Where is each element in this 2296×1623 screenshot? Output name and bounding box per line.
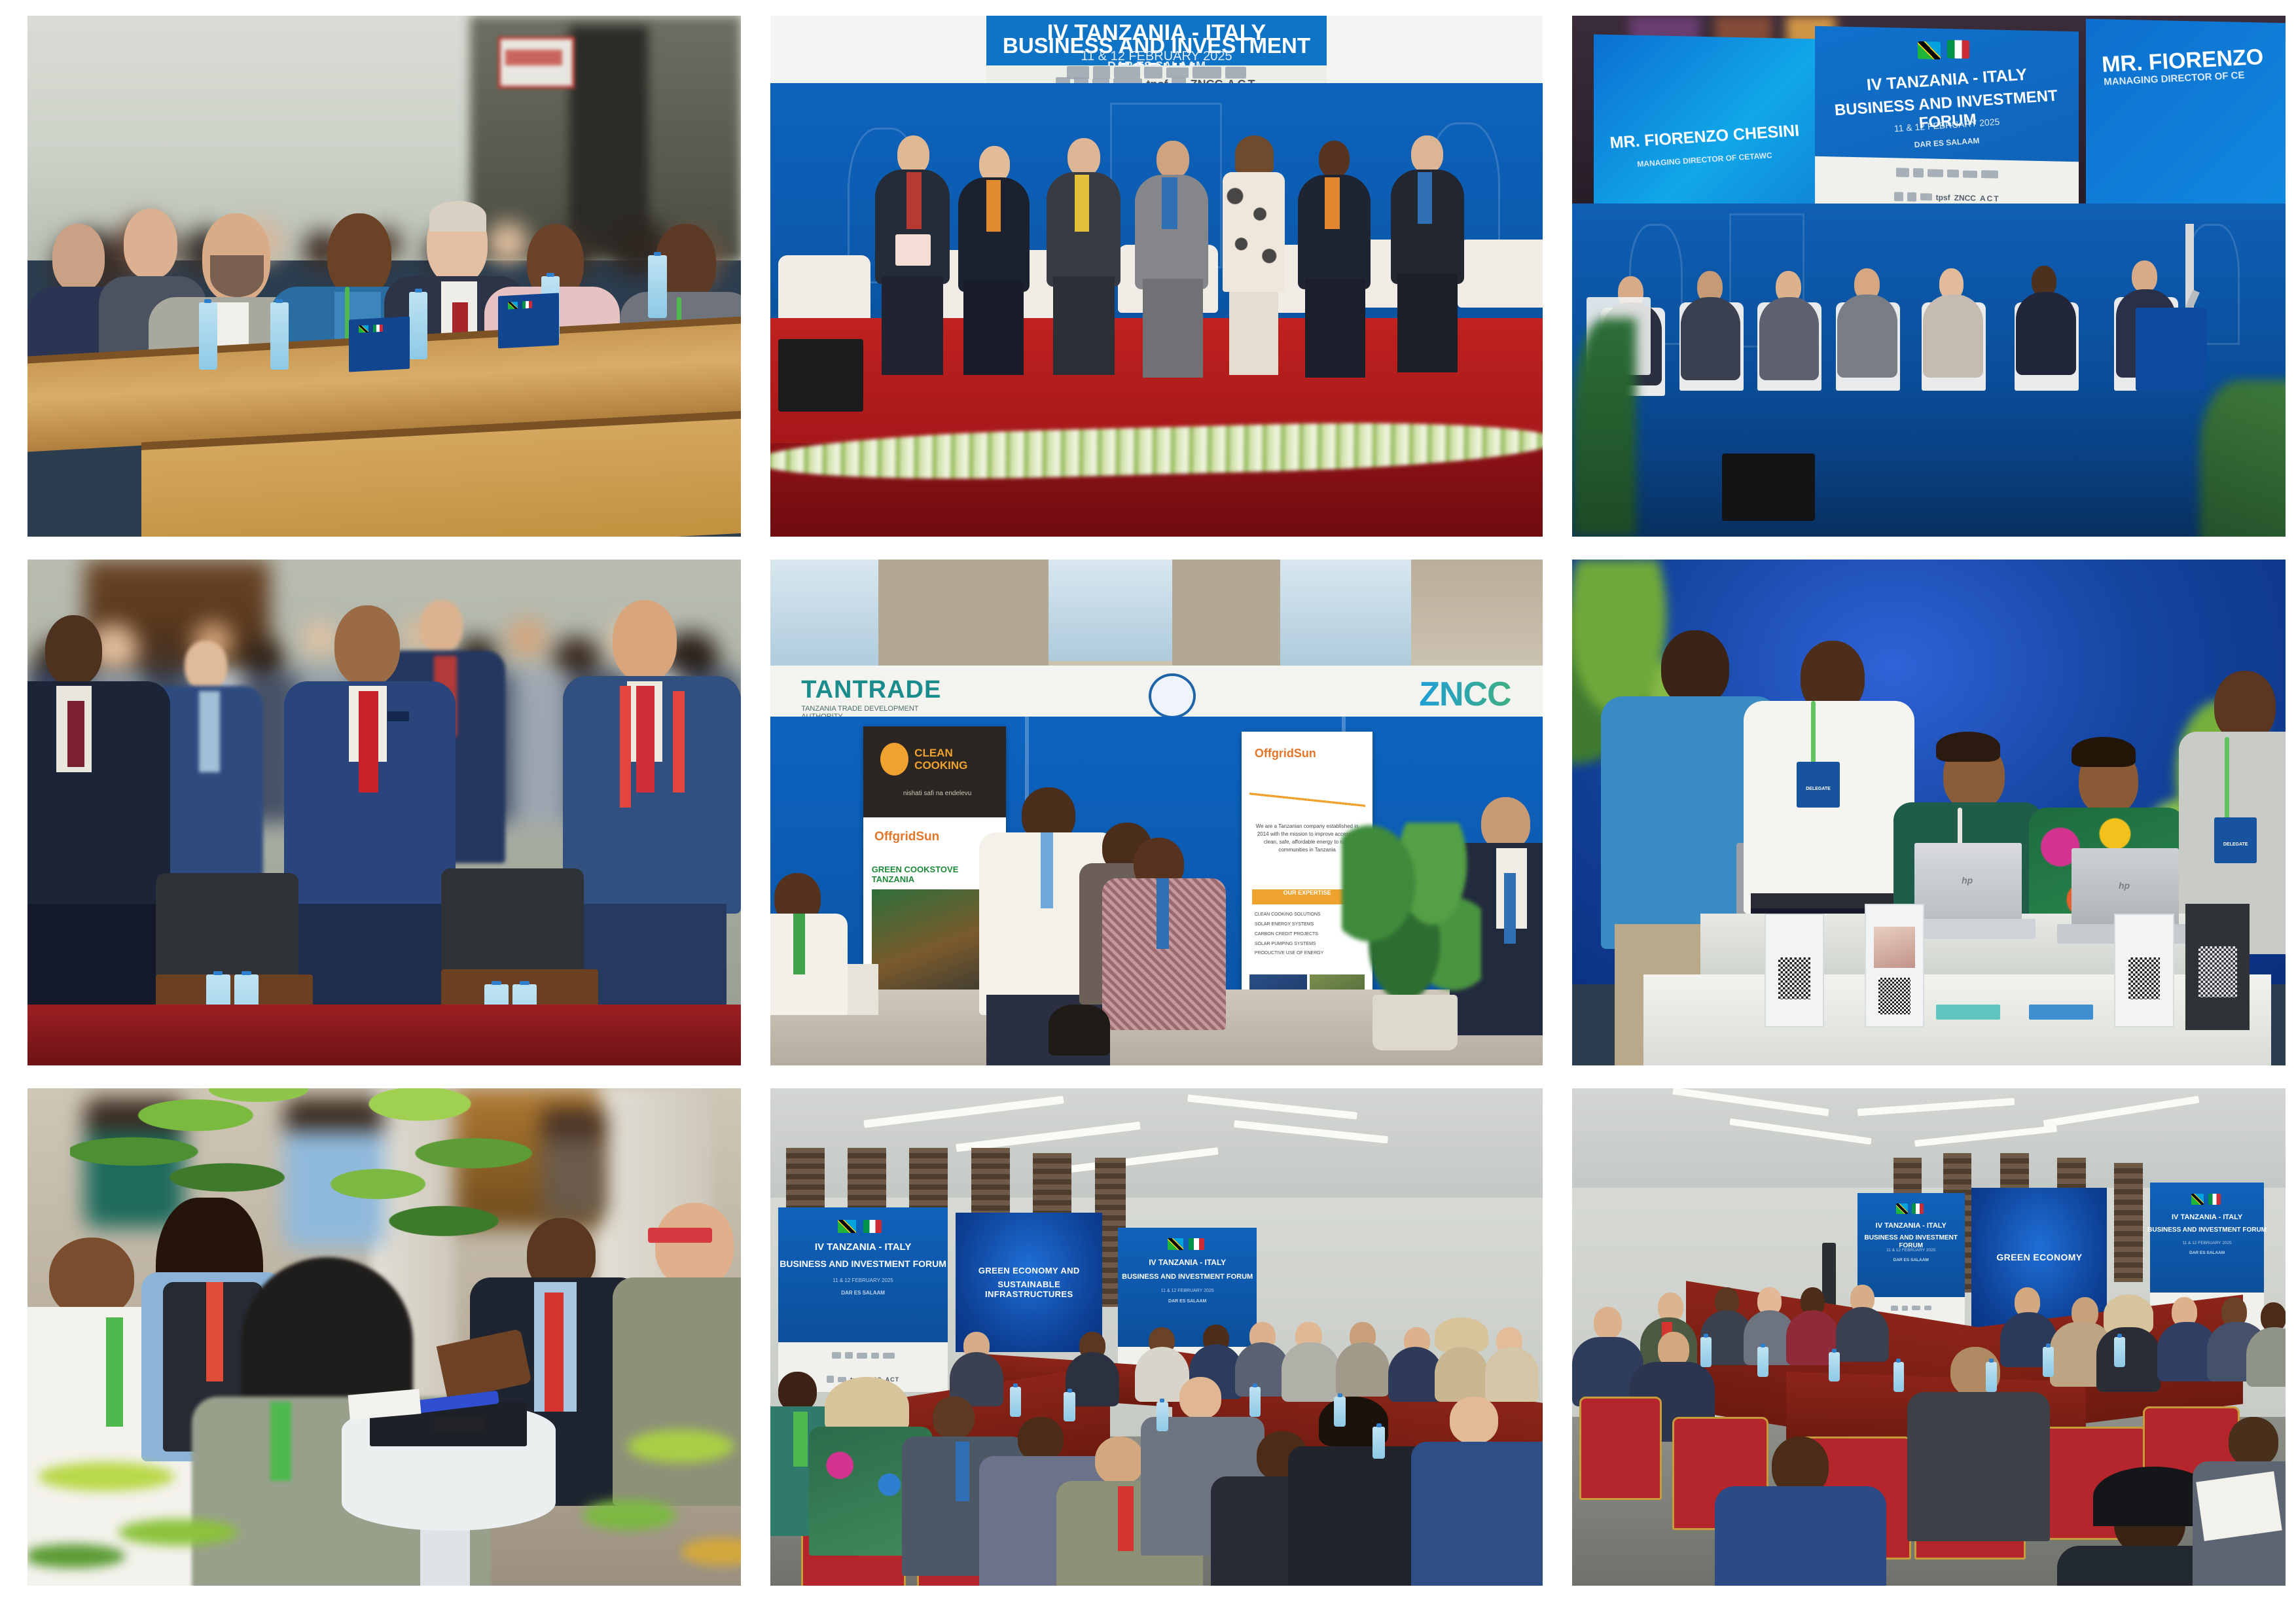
brochure xyxy=(2029,1005,2093,1020)
visitor-head xyxy=(1661,630,1729,706)
official-head xyxy=(613,600,677,681)
hp-logo: hp xyxy=(1962,875,1973,885)
info-card-stand xyxy=(1865,904,1924,1028)
delegate-suit xyxy=(1715,1486,1886,1586)
scene-audience xyxy=(27,16,741,537)
qr-code-stand xyxy=(2114,914,2174,1027)
photo-gallery-grid: IV TANZANIA - ITALY BUSINESS AND INVESTM… xyxy=(27,16,2275,1594)
gallery-photo-9[interactable]: IV TANZANIA - ITALY BUSINESS AND INVESTM… xyxy=(1572,1088,2286,1586)
banquet-chair xyxy=(1579,1397,1662,1500)
scene-expo-booth: TANTRADE TANZANIA TRADE DEVELOPMENT AUTH… xyxy=(770,560,1543,1065)
potted-palm xyxy=(2200,380,2286,537)
water-bottle xyxy=(409,292,427,359)
delegate-suit xyxy=(1907,1392,2050,1541)
badge-label: DELEGATE xyxy=(2214,842,2257,847)
laptop-screen: hp xyxy=(1914,843,2022,924)
lanyard xyxy=(1041,832,1053,908)
background-delegate xyxy=(185,641,227,691)
background-delegate xyxy=(420,600,463,653)
window xyxy=(1049,560,1172,661)
potted-palm xyxy=(1572,318,1636,537)
necktie xyxy=(359,691,379,793)
gallery-photo-5[interactable]: TANTRADE TANZANIA TRADE DEVELOPMENT AUTH… xyxy=(770,560,1543,1065)
cookstove-headline: GREEN COOKSTOVE TANZANIA xyxy=(872,865,997,884)
name-placard xyxy=(498,293,559,348)
necktie xyxy=(636,686,655,792)
gallery-photo-3[interactable]: MR. FIORENZO CHESINI MANAGING DIRECTOR O… xyxy=(1572,16,2286,537)
plant-pot xyxy=(1372,995,1458,1050)
window xyxy=(770,560,878,671)
phone xyxy=(434,1417,484,1432)
scene-conference-room-wide: IV TANZANIA - ITALY BUSINESS AND INVESTM… xyxy=(770,1088,1543,1586)
name-placard xyxy=(349,316,410,371)
registration-counter-front xyxy=(1643,974,2271,1065)
brochure xyxy=(1936,1005,2000,1020)
delegate-head xyxy=(2229,1417,2278,1467)
red-carpet xyxy=(27,1005,741,1065)
scene-led-screens: MR. FIORENZO CHESINI MANAGING DIRECTOR O… xyxy=(1572,16,2286,537)
delegate-head xyxy=(655,1203,734,1287)
delegate-badge: DELEGATE xyxy=(1797,762,1839,808)
hp-logo: hp xyxy=(2119,880,2130,891)
official-head xyxy=(334,605,400,687)
clean-cooking-sub: nishati safi na endelevu xyxy=(877,790,997,797)
gallery-photo-2[interactable]: IV TANZANIA - ITALY BUSINESS AND INVESTM… xyxy=(770,16,1543,537)
stage-floor xyxy=(1572,448,2286,537)
scene-stage-panel: IV TANZANIA - ITALY BUSINESS AND INVESTM… xyxy=(770,16,1543,537)
tantrade-logo: TANTRADE xyxy=(801,676,933,703)
scene-standing-dignitaries xyxy=(27,560,741,1065)
window xyxy=(1280,560,1412,666)
qr-code-stand xyxy=(1765,914,1824,1027)
gallery-photo-4[interactable] xyxy=(27,560,741,1065)
lanyard-ribbon xyxy=(620,686,631,808)
palm-fronds xyxy=(270,1088,570,1357)
badge-label: DELEGATE xyxy=(1797,787,1839,791)
foreground-fronds xyxy=(527,1387,741,1586)
hair xyxy=(2072,737,2136,767)
association-seal xyxy=(1149,673,1196,719)
scene-networking xyxy=(27,1088,741,1586)
water-bottle xyxy=(648,255,666,318)
offgridsun-logo: OffgridSun xyxy=(874,830,994,844)
staff-white-shirt xyxy=(1744,701,1915,914)
clean-cooking-label: CLEAN COOKING xyxy=(914,747,997,772)
official-suit xyxy=(27,681,170,924)
qr-code-icon xyxy=(2198,946,2237,997)
scene-conference-room-green: IV TANZANIA - ITALY BUSINESS AND INVESTM… xyxy=(1572,1088,2286,1586)
delegates-foreground xyxy=(770,1088,1543,1586)
dark-qr-stand xyxy=(2185,904,2250,1030)
panel-placard xyxy=(2136,308,2207,391)
scene-registration-desk: DELEGATE DELEGATE hp xyxy=(1572,560,2286,1065)
lanyard xyxy=(106,1317,123,1427)
foreground-fronds xyxy=(27,1417,355,1586)
gallery-photo-7[interactable] xyxy=(27,1088,741,1586)
gallery-photo-6[interactable]: DELEGATE DELEGATE hp xyxy=(1572,560,2286,1065)
qr-code-icon xyxy=(2128,957,2161,1000)
water-bottle xyxy=(199,302,217,370)
qr-code-icon xyxy=(1778,957,1810,1000)
zncc-logo: ZNCC xyxy=(1419,675,1543,714)
paper-document xyxy=(2196,1471,2282,1541)
offgridsun-logo: OffgridSun xyxy=(1255,747,1359,760)
stage-speaker-monitor xyxy=(778,339,863,412)
official-head xyxy=(45,615,102,686)
gallery-photo-1[interactable] xyxy=(27,16,741,537)
hair xyxy=(1936,732,2000,762)
stage-monitor xyxy=(1722,454,1815,521)
booth-header-band: TANTRADE TANZANIA TRADE DEVELOPMENT AUTH… xyxy=(770,666,1543,721)
cookstove-display xyxy=(1049,1005,1110,1055)
qr-code-icon xyxy=(1878,978,1910,1014)
gallery-photo-8[interactable]: IV TANZANIA - ITALY BUSINESS AND INVESTM… xyxy=(770,1088,1543,1586)
red-glasses xyxy=(648,1228,712,1243)
water-bottle xyxy=(270,302,289,370)
delegate-badge: DELEGATE xyxy=(2214,817,2257,863)
